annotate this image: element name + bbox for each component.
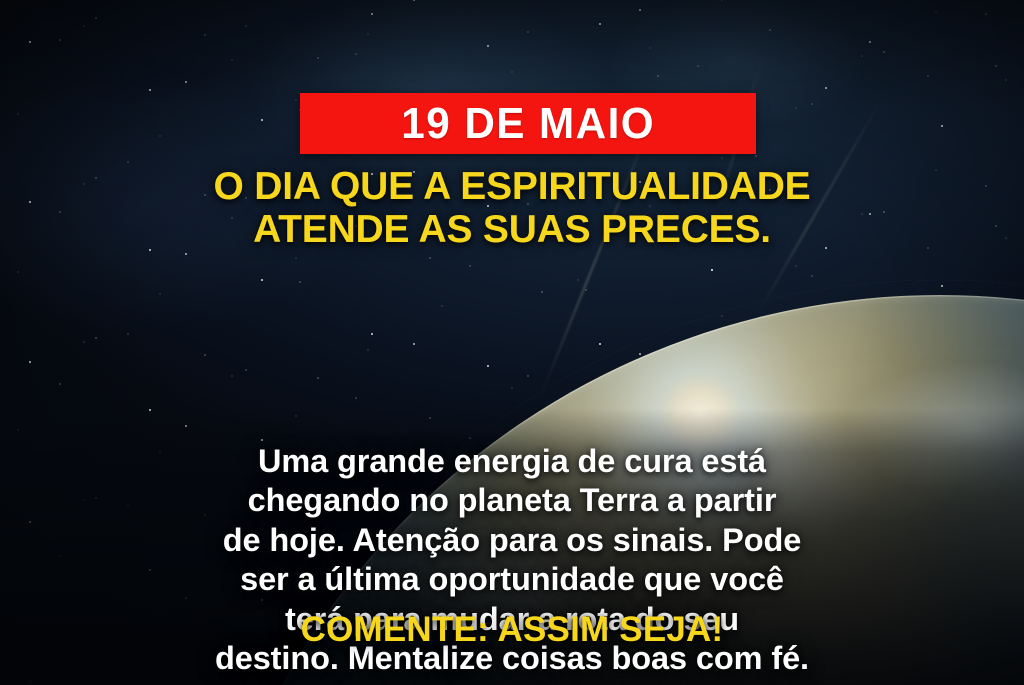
body-copy-line: chegando no planeta Terra a partir [44,481,980,520]
call-to-action: COMENTE: ASSIM SEJA! [0,612,1024,649]
social-media-poster: 19 DE MAIO O DIA QUE A ESPIRITUALIDADE A… [0,0,1024,685]
body-copy-line: de hoje. Atenção para os sinais. Pode [44,521,980,560]
poster-content: 19 DE MAIO O DIA QUE A ESPIRITUALIDADE A… [0,0,1024,685]
headline: O DIA QUE A ESPIRITUALIDADE ATENDE AS SU… [0,166,1024,252]
call-to-action-label: COMENTE: ASSIM SEJA! [301,610,724,649]
headline-line-1: O DIA QUE A ESPIRITUALIDADE [214,165,811,208]
headline-line-2: ATENDE AS SUAS PRECES. [40,209,984,252]
date-banner: 19 DE MAIO [300,93,756,154]
body-copy-line: ser a última oportunidade que você [44,560,980,599]
date-banner-label: 19 DE MAIO [401,102,655,146]
body-copy-line: Uma grande energia de cura está [44,442,980,481]
